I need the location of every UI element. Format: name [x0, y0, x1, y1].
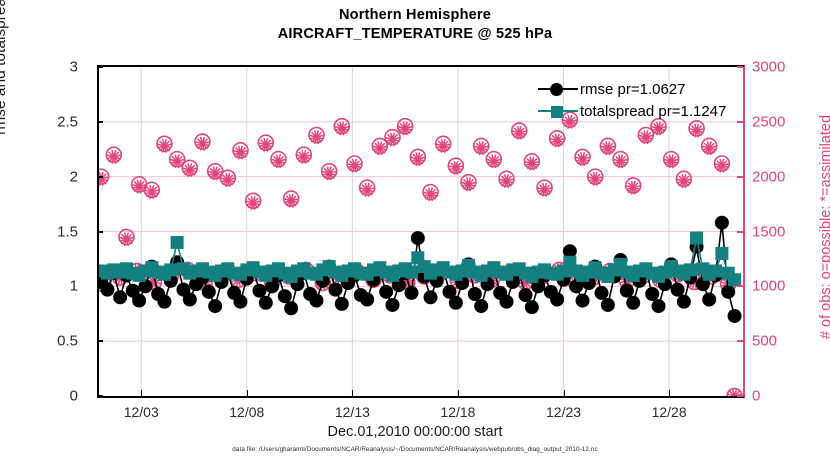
rmse-marker	[183, 292, 197, 306]
rmse-marker	[449, 296, 463, 310]
rmse-marker	[652, 299, 666, 313]
y-axis-left-label: rmse and totalspread	[0, 0, 10, 232]
rmse-marker	[550, 292, 564, 306]
rmse-marker	[645, 287, 659, 301]
y-right-tick-mark	[737, 66, 743, 68]
y-right-tick-label: 1000	[752, 278, 785, 295]
rmse-marker	[278, 289, 292, 303]
y-left-tick-label: 1.5	[57, 223, 78, 240]
rmse-marker	[259, 296, 273, 310]
rmse-marker	[601, 298, 615, 312]
rmse-marker	[576, 294, 590, 308]
y-right-tick-mark	[737, 231, 743, 233]
rmse-marker	[702, 292, 716, 306]
totalspread-marker	[164, 263, 177, 276]
y-axis-right-label: # of obs: o=possible; *=assimilated	[818, 54, 830, 400]
totalspread-marker	[171, 236, 184, 249]
y-left-tick-mark	[97, 176, 103, 178]
rmse-marker	[335, 297, 349, 311]
x-tick-mark	[564, 390, 565, 396]
rmse-marker	[252, 284, 266, 298]
y-right-tick-label: 1500	[752, 223, 785, 240]
y-right-tick-mark	[737, 285, 743, 287]
legend-item-totalspread: totalspread pr=1.1247	[536, 100, 748, 122]
rmse-marker	[360, 292, 374, 306]
x-tick-label: 12/23	[546, 404, 581, 420]
rmse-marker	[208, 299, 222, 313]
y-left-tick-mark	[97, 121, 103, 123]
rmse-marker	[525, 300, 539, 314]
title-line-1: Northern Hemisphere	[0, 6, 830, 25]
x-tick-mark	[141, 390, 142, 396]
y-right-tick-label: 3000	[752, 59, 785, 76]
y-right-tick-label: 2000	[752, 168, 785, 185]
totalspread-marker	[690, 232, 703, 245]
y-left-tick-label: 3	[70, 59, 78, 76]
rmse-marker	[404, 286, 418, 300]
rmse-marker	[519, 288, 533, 302]
totalspread-marker	[684, 263, 697, 276]
data-file-footer: data file: /Users/gharamti/Documents/NCA…	[0, 446, 830, 453]
x-tick-label: 12/28	[652, 404, 687, 420]
x-tick-label: 12/18	[440, 404, 475, 420]
y-right-tick-label: 0	[752, 388, 760, 405]
rmse-marker	[411, 231, 425, 245]
y-left-tick-label: 2.5	[57, 113, 78, 130]
rmse-marker	[309, 294, 323, 308]
totalspread-marker	[709, 264, 722, 277]
rmse-marker	[500, 295, 514, 309]
rmse-marker	[113, 290, 127, 304]
rmse-marker	[379, 285, 393, 299]
legend-label-rmse: rmse pr=1.0627	[580, 81, 685, 98]
y-left-tick-label: 2	[70, 168, 78, 185]
totalspread-marker	[715, 247, 728, 260]
rmse-marker	[671, 283, 685, 297]
legend-label-totalspread: totalspread pr=1.1247	[580, 103, 726, 120]
x-tick-mark	[247, 390, 248, 396]
x-tick-label: 12/03	[124, 404, 159, 420]
y-right-tick-mark	[737, 176, 743, 178]
chart-figure: Northern Hemisphere AIRCRAFT_TEMPERATURE…	[0, 0, 830, 470]
y-left-tick-label: 0.5	[57, 333, 78, 350]
rmse-marker	[424, 290, 438, 304]
y-left-tick-label: 1	[70, 278, 78, 295]
y-left-tick-mark	[97, 395, 103, 397]
x-tick-mark	[352, 390, 353, 396]
rmse-marker	[468, 287, 482, 301]
rmse-marker	[715, 216, 729, 230]
rmse-marker	[157, 295, 171, 309]
totalspread-marker	[728, 273, 741, 286]
y-right-tick-mark	[737, 395, 743, 397]
chart-legend: rmse pr=1.0627 totalspread pr=1.1247	[536, 78, 748, 122]
x-tick-mark	[669, 390, 670, 396]
y-left-tick-mark	[97, 66, 103, 68]
rmse-marker	[626, 296, 640, 310]
y-right-tick-mark	[737, 340, 743, 342]
rmse-marker	[202, 285, 216, 299]
y-left-tick-mark	[97, 231, 103, 233]
x-tick-label: 12/13	[335, 404, 370, 420]
rmse-marker	[595, 286, 609, 300]
y-left-tick-mark	[97, 285, 103, 287]
rmse-marker	[284, 301, 298, 315]
legend-marker-square-icon	[536, 101, 580, 121]
rmse-marker	[620, 284, 634, 298]
rmse-marker	[385, 298, 399, 312]
title-line-2: AIRCRAFT_TEMPERATURE @ 525 hPa	[0, 25, 830, 44]
y-right-tick-label: 2500	[752, 113, 785, 130]
x-tick-label: 12/08	[229, 404, 264, 420]
rmse-marker	[474, 299, 488, 313]
legend-item-rmse: rmse pr=1.0627	[536, 78, 748, 100]
rmse-marker	[728, 309, 742, 323]
legend-marker-circle-icon	[536, 79, 580, 99]
x-tick-mark	[458, 390, 459, 396]
rmse-marker	[721, 285, 735, 299]
y-left-tick-mark	[97, 340, 103, 342]
rmse-marker	[233, 295, 247, 309]
rmse-marker	[328, 283, 342, 297]
y-right-tick-label: 500	[752, 333, 777, 350]
totalspread-marker	[405, 266, 418, 279]
x-axis-label: Dec.01,2010 00:00:00 start	[0, 424, 830, 440]
chart-title: Northern Hemisphere AIRCRAFT_TEMPERATURE…	[0, 6, 830, 44]
rmse-marker	[132, 294, 146, 308]
rmse-marker	[677, 295, 691, 309]
y-left-tick-label: 0	[70, 388, 78, 405]
